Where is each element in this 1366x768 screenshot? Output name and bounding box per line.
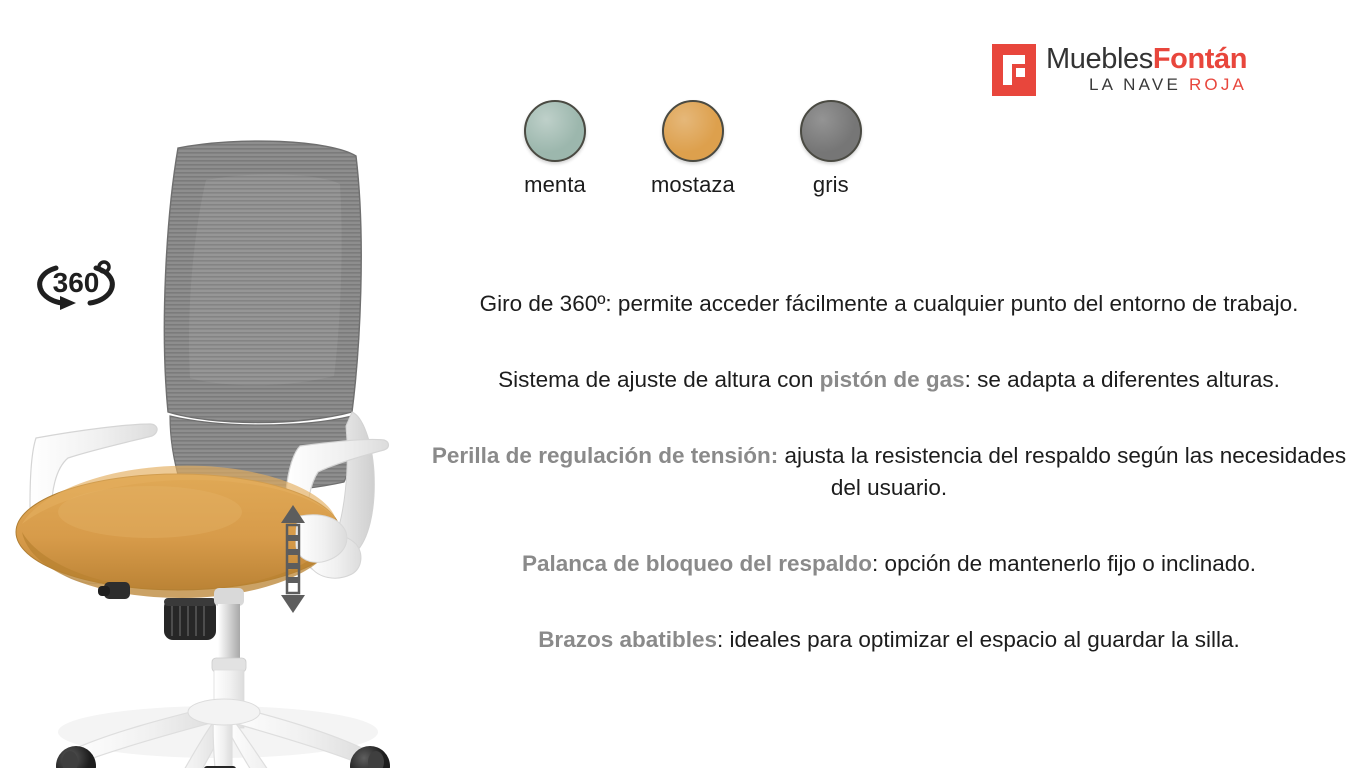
color-swatch-label: gris — [813, 172, 849, 198]
rotation-360-icon: 360 — [30, 252, 122, 314]
base-hub — [188, 699, 260, 725]
feature-suffix: : se adapta a diferentes alturas. — [965, 367, 1280, 392]
color-swatch-gris[interactable]: gris — [800, 100, 862, 198]
feature-suffix: ajusta la resistencia del respaldo según… — [778, 443, 1346, 500]
color-swatch-label: menta — [524, 172, 586, 198]
brand-tagline-part1: LA NAVE — [1089, 75, 1181, 94]
brand-logo[interactable]: MueblesFontán LA NAVE ROJA — [992, 44, 1247, 96]
feature-suffix: : ideales para optimizar el espacio al g… — [717, 627, 1240, 652]
feature-bold: Perilla de regulación de tensión: — [432, 443, 778, 468]
fontan-f-mark-icon — [992, 44, 1036, 96]
color-swatch-menta[interactable]: menta — [524, 100, 586, 198]
feature-bold: Brazos abatibles — [538, 627, 717, 652]
feature-item-gas-piston: Sistema de ajuste de altura con pistón d… — [424, 364, 1354, 396]
brand-name-part2: Fontán — [1153, 43, 1247, 75]
color-swatch-group: menta mostaza gris — [524, 100, 862, 198]
feature-item-rotation: Giro de 360º: permite acceder fácilmente… — [424, 288, 1354, 320]
brand-name: MueblesFontán — [1046, 44, 1247, 74]
feature-list: Giro de 360º: permite acceder fácilmente… — [424, 265, 1354, 656]
product-image — [0, 120, 440, 768]
rotation-360-label: 360 — [53, 267, 100, 298]
feature-item-folding-arms: Brazos abatibles: ideales para optimizar… — [424, 624, 1354, 656]
color-circle-mint-icon[interactable] — [524, 100, 586, 162]
feature-item-tension-knob: Perilla de regulación de tensión: ajusta… — [424, 440, 1354, 504]
office-chair-illustration — [0, 120, 440, 768]
brand-tagline: LA NAVE ROJA — [1046, 76, 1247, 94]
brand-tagline-part2: ROJA — [1189, 75, 1247, 94]
feature-suffix: : opción de mantenerlo fijo o inclinado. — [872, 551, 1256, 576]
infographic-page: MueblesFontán LA NAVE ROJA menta mostaza… — [0, 0, 1366, 768]
degree-symbol — [99, 262, 109, 272]
tension-knob — [164, 598, 216, 640]
brand-logo-text: MueblesFontán LA NAVE ROJA — [1046, 44, 1247, 94]
height-adjust-arrow-icon — [276, 505, 310, 613]
feature-prefix: Sistema de ajuste de altura con — [498, 367, 819, 392]
feature-item-backrest-lock: Palanca de bloqueo del respaldo: opción … — [424, 548, 1354, 580]
color-swatch-mostaza[interactable]: mostaza — [651, 100, 735, 198]
color-circle-mustard-icon[interactable] — [662, 100, 724, 162]
brand-name-part1: Muebles — [1046, 43, 1153, 75]
feature-bold: pistón de gas — [820, 367, 965, 392]
color-swatch-label: mostaza — [651, 172, 735, 198]
color-circle-gray-icon[interactable] — [800, 100, 862, 162]
feature-bold: Palanca de bloqueo del respaldo — [522, 551, 872, 576]
